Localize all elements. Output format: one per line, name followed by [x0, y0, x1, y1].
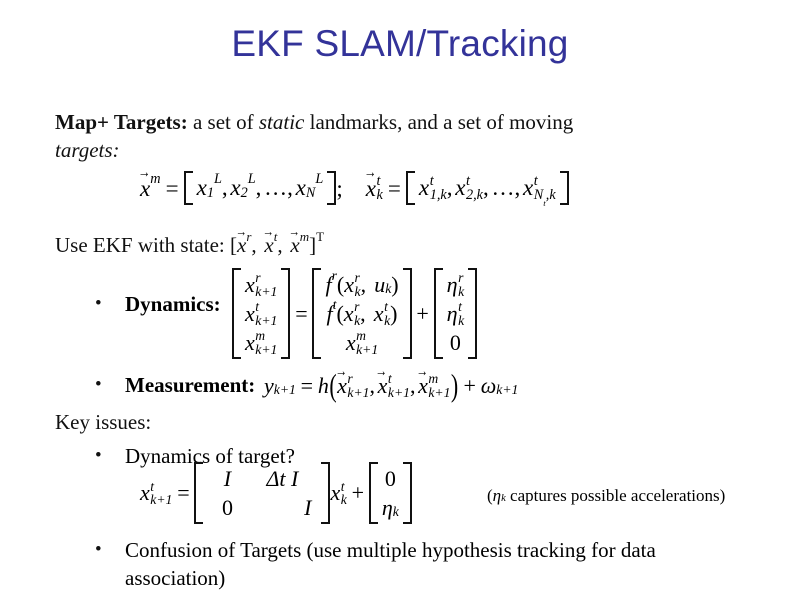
map-targets-lead: Map+ Targets:	[55, 110, 188, 134]
map-targets-text-1: a set of	[188, 110, 259, 134]
vec-x-target: x	[366, 177, 376, 200]
bullet-dynamics-label: Dynamics:	[125, 290, 221, 318]
bullet-marker-icon: •	[94, 290, 125, 318]
equation-dynamics: xrk+1 xtk+1 xmk+1 = fr(xrk, uk) ft(xrk, …	[232, 268, 477, 365]
bullet-marker-icon: •	[94, 442, 125, 470]
map-vector-brackets: x1L, x2L, …, xNL	[184, 171, 337, 205]
bullet-measurement-label: Measurement:	[125, 371, 255, 399]
page-title: EKF SLAM/Tracking	[0, 22, 800, 66]
dynamics-lhs-vector: xrk+1 xtk+1 xmk+1	[232, 268, 290, 359]
bullet-confusion-of-targets: • Confusion of Targets (use multiple hyp…	[94, 536, 754, 592]
equation-note-text: captures possible accelerations)	[506, 486, 726, 505]
use-ekf-label: Use EKF with state:	[55, 233, 225, 257]
map-targets-trailing: targets:	[55, 138, 120, 162]
bullet-marker-icon: •	[94, 371, 125, 399]
map-targets-emphasis: static	[259, 110, 305, 134]
dynamics-function-vector: fr(xrk, uk) ft(xrk, xtk) xmk+1	[312, 268, 411, 359]
map-targets-paragraph: Map+ Targets: a set of static landmarks,…	[55, 108, 755, 164]
bullet-confusion-text: Confusion of Targets (use multiple hypot…	[125, 536, 754, 592]
use-ekf-paragraph: Use EKF with state: [xr, xt, xm]T	[55, 231, 755, 259]
equation-note: (ηk captures possible accelerations)	[487, 486, 725, 506]
map-targets-text-2: landmarks, and a set of moving	[304, 110, 573, 134]
equation-measurement: yk+1 = h(xrk+1,xtk+1,xmk+1) + ωk+1	[264, 372, 518, 399]
target-noise-vector: 0 ηk	[369, 462, 412, 524]
equation-state-definition: xm = x1L, x2L, …, xNL ; xtk = xt1,k, xt2…	[140, 171, 569, 205]
key-issues-label: Key issues:	[55, 408, 151, 436]
target-vector-brackets: xt1,k, xt2,k, …, xtNt,k	[406, 171, 569, 205]
state-vector-expression: [xr, xt, xm]T	[230, 235, 324, 256]
vec-x-map: x	[140, 177, 150, 200]
equation-target-dynamics: xtk+1 = IΔt I 0I xtk + 0 ηk	[140, 462, 412, 524]
target-transition-matrix: IΔt I 0I	[194, 462, 330, 524]
bullet-marker-icon: •	[94, 536, 125, 564]
slide-canvas: EKF SLAM/Tracking Map+ Targets: a set of…	[0, 0, 800, 600]
dynamics-noise-vector: ηrk ηtk 0	[434, 268, 478, 359]
